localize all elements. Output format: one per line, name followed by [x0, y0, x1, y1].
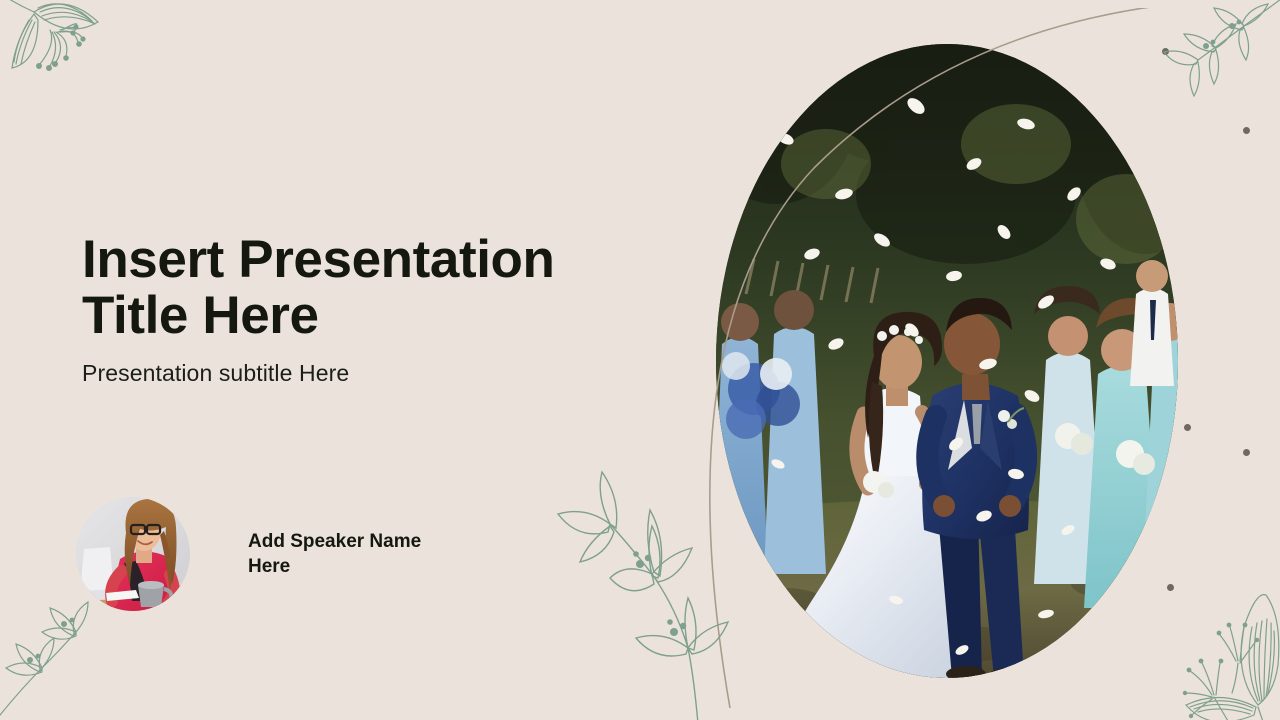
hero-photo: [716, 44, 1178, 678]
speaker-row: Add Speaker Name Here: [76, 497, 468, 611]
slide-subtitle: Presentation subtitle Here: [82, 360, 642, 387]
page-title: Insert Presentation Title Here: [82, 232, 642, 344]
decor-dot: [1184, 424, 1191, 431]
decor-dot: [1167, 584, 1174, 591]
slide-text-block: Insert Presentation Title Here Presentat…: [82, 232, 642, 387]
avatar: [76, 497, 190, 611]
botanical-top-left-icon: [0, 0, 184, 140]
decor-dot: [1243, 127, 1250, 134]
decor-dot: [1162, 48, 1169, 55]
decor-dot: [1243, 449, 1250, 456]
hero-photo-image: [716, 44, 1178, 678]
presentation-slide: Insert Presentation Title Here Presentat…: [0, 0, 1280, 720]
speaker-name: Add Speaker Name Here: [248, 529, 468, 579]
